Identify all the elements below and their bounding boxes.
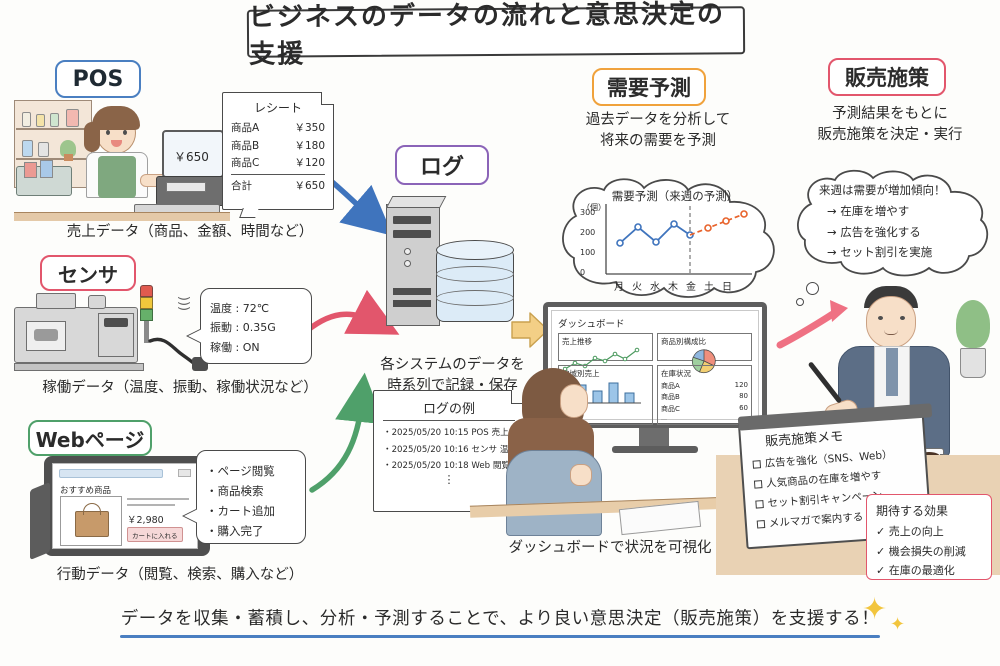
badge-log: ログ [395, 145, 489, 185]
analyst-face [560, 384, 588, 418]
machine-internal-part [34, 329, 58, 341]
badge-log-label: ログ [420, 149, 464, 181]
shelf-item [22, 140, 33, 157]
forecast-plot [604, 204, 754, 278]
sensor-reading: 振動 : 0.35G [210, 319, 302, 335]
badge-pos: POS [55, 60, 141, 98]
forecast-thought-cloud: 需要予測（来週の予測） （個） 300 200 100 0 [556, 176, 792, 300]
receipt-item-label: 商品A [231, 120, 259, 135]
caption-forecast-line2: 将来の需要を予測 [570, 131, 746, 152]
sparkle-star-large-icon: ✦ [862, 592, 887, 627]
web-callout-tail [184, 509, 198, 523]
badge-sales: 販売施策 [828, 58, 946, 96]
sales-idea-thought-bubble: 来週は需要が増加傾向！ → 在庫を増やす → 広告を強化する → セット割引を実… [793, 168, 993, 278]
sensor-signal-waves-icon: ))) [176, 296, 191, 311]
pos-illustration: ￥650 [14, 100, 224, 220]
thought-dot-small [796, 298, 804, 306]
memo-checkbox-icon[interactable] [754, 480, 763, 489]
effects-title: 期待する効果 [876, 502, 982, 519]
machine-display [104, 318, 128, 327]
receipt-folded-corner [321, 92, 334, 105]
web-event: ・購入完了 [206, 523, 296, 539]
log-panel-title: ログの例 [383, 398, 515, 421]
database-ring [436, 290, 514, 306]
clerk-eye [123, 130, 127, 135]
manager-face [866, 296, 916, 348]
stock-more-left: … [661, 415, 667, 422]
stock-item-qty: 80 [739, 392, 748, 402]
product-image-box [60, 496, 122, 546]
receipt-item-value: ￥120 [294, 155, 325, 170]
badge-web-label: Webページ [36, 424, 145, 453]
page-title-text: ビジネスのデータの流れと意思決定の支援 [249, 0, 744, 71]
receipt-tail [239, 208, 259, 218]
office-plant [950, 300, 996, 380]
sales-idea-content: 来週は需要が増加傾向！ → 在庫を増やす → 広告を強化する → セット割引を実… [819, 182, 975, 265]
product-text-line [127, 504, 175, 506]
badge-sensor-label: センサ [58, 259, 118, 288]
stock-more-row: … … [661, 415, 748, 422]
receipt-item-label: 商品C [231, 155, 259, 170]
clerk-apron [98, 156, 136, 198]
caption-sales-line2: 販売施策を決定・実行 [800, 125, 980, 146]
effect-item: ✓ 在庫の最適化 [876, 562, 982, 578]
product-text-line [127, 498, 189, 500]
plant-pot [960, 348, 986, 378]
sensor-readings-callout: 温度 : 72℃ 振動 : 0.35G 稼働 : ON [200, 288, 312, 364]
receipt-item-value: ￥350 [294, 120, 325, 135]
database-top-disc [436, 240, 514, 260]
memo-checkbox-icon[interactable] [757, 520, 766, 529]
badge-forecast-label: 需要予測 [607, 72, 691, 102]
browser-menu-icon[interactable] [178, 469, 191, 477]
stock-row: 商品A 120 [661, 381, 748, 391]
idea-heading: 来週は需要が増加傾向！ [819, 182, 975, 198]
memo-item-label: メルマガで案内する [768, 509, 863, 531]
pos-screen: ￥650 [162, 130, 224, 178]
basket-item [40, 160, 53, 178]
receipt-divider [231, 174, 325, 175]
bag-handle-icon [83, 503, 101, 515]
forecast-xtick: 土 [704, 278, 714, 293]
signal-lamp-yellow [140, 297, 153, 309]
add-to-cart-button[interactable]: カートに入れる [127, 527, 183, 542]
dashboard-card-stock-title: 在庫状況 [661, 368, 748, 379]
badge-forecast: 需要予測 [592, 68, 706, 106]
counter-top [14, 212, 230, 221]
dashboard-card-mix[interactable]: 商品別構成比 [657, 333, 752, 361]
shelf-item [66, 109, 79, 127]
caption-sensor: 稼働データ（温度、振動、稼働状況など） [42, 378, 318, 399]
expected-effects-box: 期待する効果 ✓ 売上の向上 ✓ 機会損失の削減 ✓ 在庫の最適化 [866, 494, 992, 580]
stock-item-name: 商品B [661, 392, 680, 402]
shelf-divider [16, 128, 90, 130]
clerk-eye [106, 130, 110, 135]
caption-dashboard: ダッシュボードで状況を可視化 [490, 538, 730, 559]
browser-address-bar[interactable] [59, 469, 163, 478]
caption-pos: 売上データ（商品、金額、時間など） [60, 222, 320, 243]
web-events-callout: ・ページ閲覧 ・商品検索 ・カート追加 ・購入完了 [196, 450, 306, 544]
web-event: ・商品検索 [206, 483, 296, 499]
log-entry: ・2025/05/20 10:18 Web 閲覧… [383, 459, 515, 471]
analyst-hand [570, 464, 592, 486]
forecast-xtick: 月 [614, 278, 624, 293]
dashboard-card-stock[interactable]: 在庫状況 商品A 120 商品B 80 商品C 60 … [657, 365, 752, 425]
signal-lamp-green [140, 309, 153, 321]
footer-summary: データを収集・蓄積し、分析・予測することで、より良い意思決定（販売施策）を支援す… [90, 605, 910, 638]
log-entry: ・2025/05/20 10:15 POS 売上 … [383, 426, 515, 438]
sensor-reading: 稼働 : ON [210, 339, 302, 355]
log-entry: ・2025/05/20 10:16 センサ 温度… [383, 443, 515, 455]
receipt-callout: レシート 商品A ￥350 商品B ￥180 商品C ￥120 合計 ￥650 [222, 92, 334, 210]
shelf-item [38, 142, 49, 157]
stock-item-qty: 60 [739, 404, 748, 414]
sensor-reading: 温度 : 72℃ [210, 300, 302, 316]
forecast-xtick: 日 [722, 278, 732, 293]
server-drive-bay [393, 300, 431, 307]
log-continuation: ⋮ [383, 476, 515, 485]
server-indicator-light [404, 248, 411, 255]
receipt-row: 商品C ￥120 [231, 155, 325, 170]
monitor-base [612, 446, 698, 453]
effect-item: ✓ 売上の向上 [876, 523, 982, 539]
receipt-row: 商品A ￥350 [231, 120, 325, 135]
caption-sales: 予測結果をもとに 販売施策を決定・実行 [800, 104, 980, 146]
web-event: ・ページ閲覧 [206, 463, 296, 479]
clerk-ponytail [84, 122, 100, 152]
receipt-total-label: 合計 [231, 178, 252, 193]
web-page-heading: おすすめ商品 [60, 484, 111, 496]
manager-eye [900, 316, 905, 320]
caption-sales-line1: 予測結果をもとに [800, 104, 980, 125]
receipt-total-row: 合計 ￥650 [231, 178, 325, 193]
idea-item: → セット割引を実施 [827, 244, 975, 260]
manager-tie [886, 348, 898, 396]
badge-sales-label: 販売施策 [845, 62, 929, 92]
receipt-slot [166, 182, 206, 192]
page-title: ビジネスのデータの流れと意思決定の支援 [247, 6, 745, 57]
plant-pot [64, 154, 73, 161]
receipt-row: 商品B ￥180 [231, 138, 325, 153]
shelf-item [50, 113, 59, 127]
product-price: ￥2,980 [127, 512, 164, 526]
infographic-canvas: ビジネスのデータの流れと意思決定の支援 [0, 0, 1000, 666]
receipt-item-value: ￥180 [294, 138, 325, 153]
forecast-chart-title: 需要予測（来週の予測） [582, 188, 768, 204]
idea-item: → 広告を強化する [827, 224, 975, 240]
stock-row: 商品B 80 [661, 392, 748, 402]
machine-base [14, 363, 144, 371]
tablet-stand [30, 482, 50, 560]
server-drive-bay [393, 230, 431, 238]
footer-text: データを収集・蓄積し、分析・予測することで、より良い意思決定（販売施策）を支援す… [90, 605, 910, 630]
web-event: ・カート追加 [206, 503, 296, 519]
sparkle-star-small-icon: ✦ [890, 614, 905, 635]
monitor-neck [639, 428, 669, 448]
forecast-ytick: 100 [580, 248, 602, 257]
server-drive-bay [393, 216, 431, 224]
server-drive-bay [393, 288, 431, 295]
server-top-face [386, 196, 446, 208]
machine-top-box [36, 293, 76, 309]
memo-checkbox-icon[interactable] [755, 500, 764, 509]
manager-eye [878, 316, 883, 320]
idea-item: → 在庫を増やす [827, 203, 975, 219]
shelf-item [22, 112, 31, 127]
forecast-ytick: 300 [580, 208, 602, 217]
plant-leaves [956, 300, 990, 348]
analyst-body [506, 450, 602, 536]
database-ring [436, 266, 514, 282]
sensor-callout-tail [188, 329, 202, 343]
forecast-xtick: 金 [686, 278, 696, 293]
footer-underline [120, 635, 880, 638]
shelf-item [36, 114, 45, 127]
receipt-title: レシート [231, 99, 325, 116]
badge-web: Webページ [28, 420, 152, 456]
stock-item-qty: 120 [735, 381, 748, 391]
signal-lamp-red [140, 285, 153, 297]
forecast-xtick: 火 [632, 278, 642, 293]
shelf-divider-2 [16, 158, 90, 160]
caption-forecast: 過去データを分析して 将来の需要を予測 [570, 110, 746, 152]
stock-item-name: 商品A [661, 381, 680, 391]
dashboard-card-trend[interactable]: 売上推移 [558, 333, 653, 361]
stock-row: 商品C 60 [661, 404, 748, 414]
effect-item: ✓ 機会損失の削減 [876, 543, 982, 559]
caption-web: 行動データ（閲覧、検索、購入など） [50, 565, 310, 586]
receipt-item-label: 商品B [231, 138, 259, 153]
dashboard-title: ダッシュボード [558, 316, 752, 330]
tablet-screen: おすすめ商品 ￥2,980 カートに入れる [52, 463, 198, 549]
forecast-ytick: 0 [580, 268, 602, 277]
forecast-chart: 需要予測（来週の予測） （個） 300 200 100 0 [582, 188, 768, 292]
memo-checkbox-icon[interactable] [752, 460, 761, 469]
thought-dot-large [806, 282, 819, 295]
server-indicator-light [404, 260, 411, 267]
pos-screen-amount: ￥650 [174, 148, 209, 165]
memo-item-label: 人気商品の在庫を増やす [766, 468, 882, 491]
badge-pos-label: POS [73, 67, 124, 92]
dashboard-card-trend-title: 売上推移 [562, 336, 649, 347]
machine-knob [88, 295, 106, 309]
basket-item [24, 162, 37, 178]
server-database-illustration [386, 196, 516, 346]
forecast-ytick: 200 [580, 228, 602, 237]
caption-forecast-line1: 過去データを分析して [570, 110, 746, 131]
stock-item-name: 商品C [661, 404, 680, 414]
forecast-xtick: 水 [650, 278, 660, 293]
receipt-total-value: ￥650 [294, 178, 325, 193]
forecast-xtick: 木 [668, 278, 678, 293]
